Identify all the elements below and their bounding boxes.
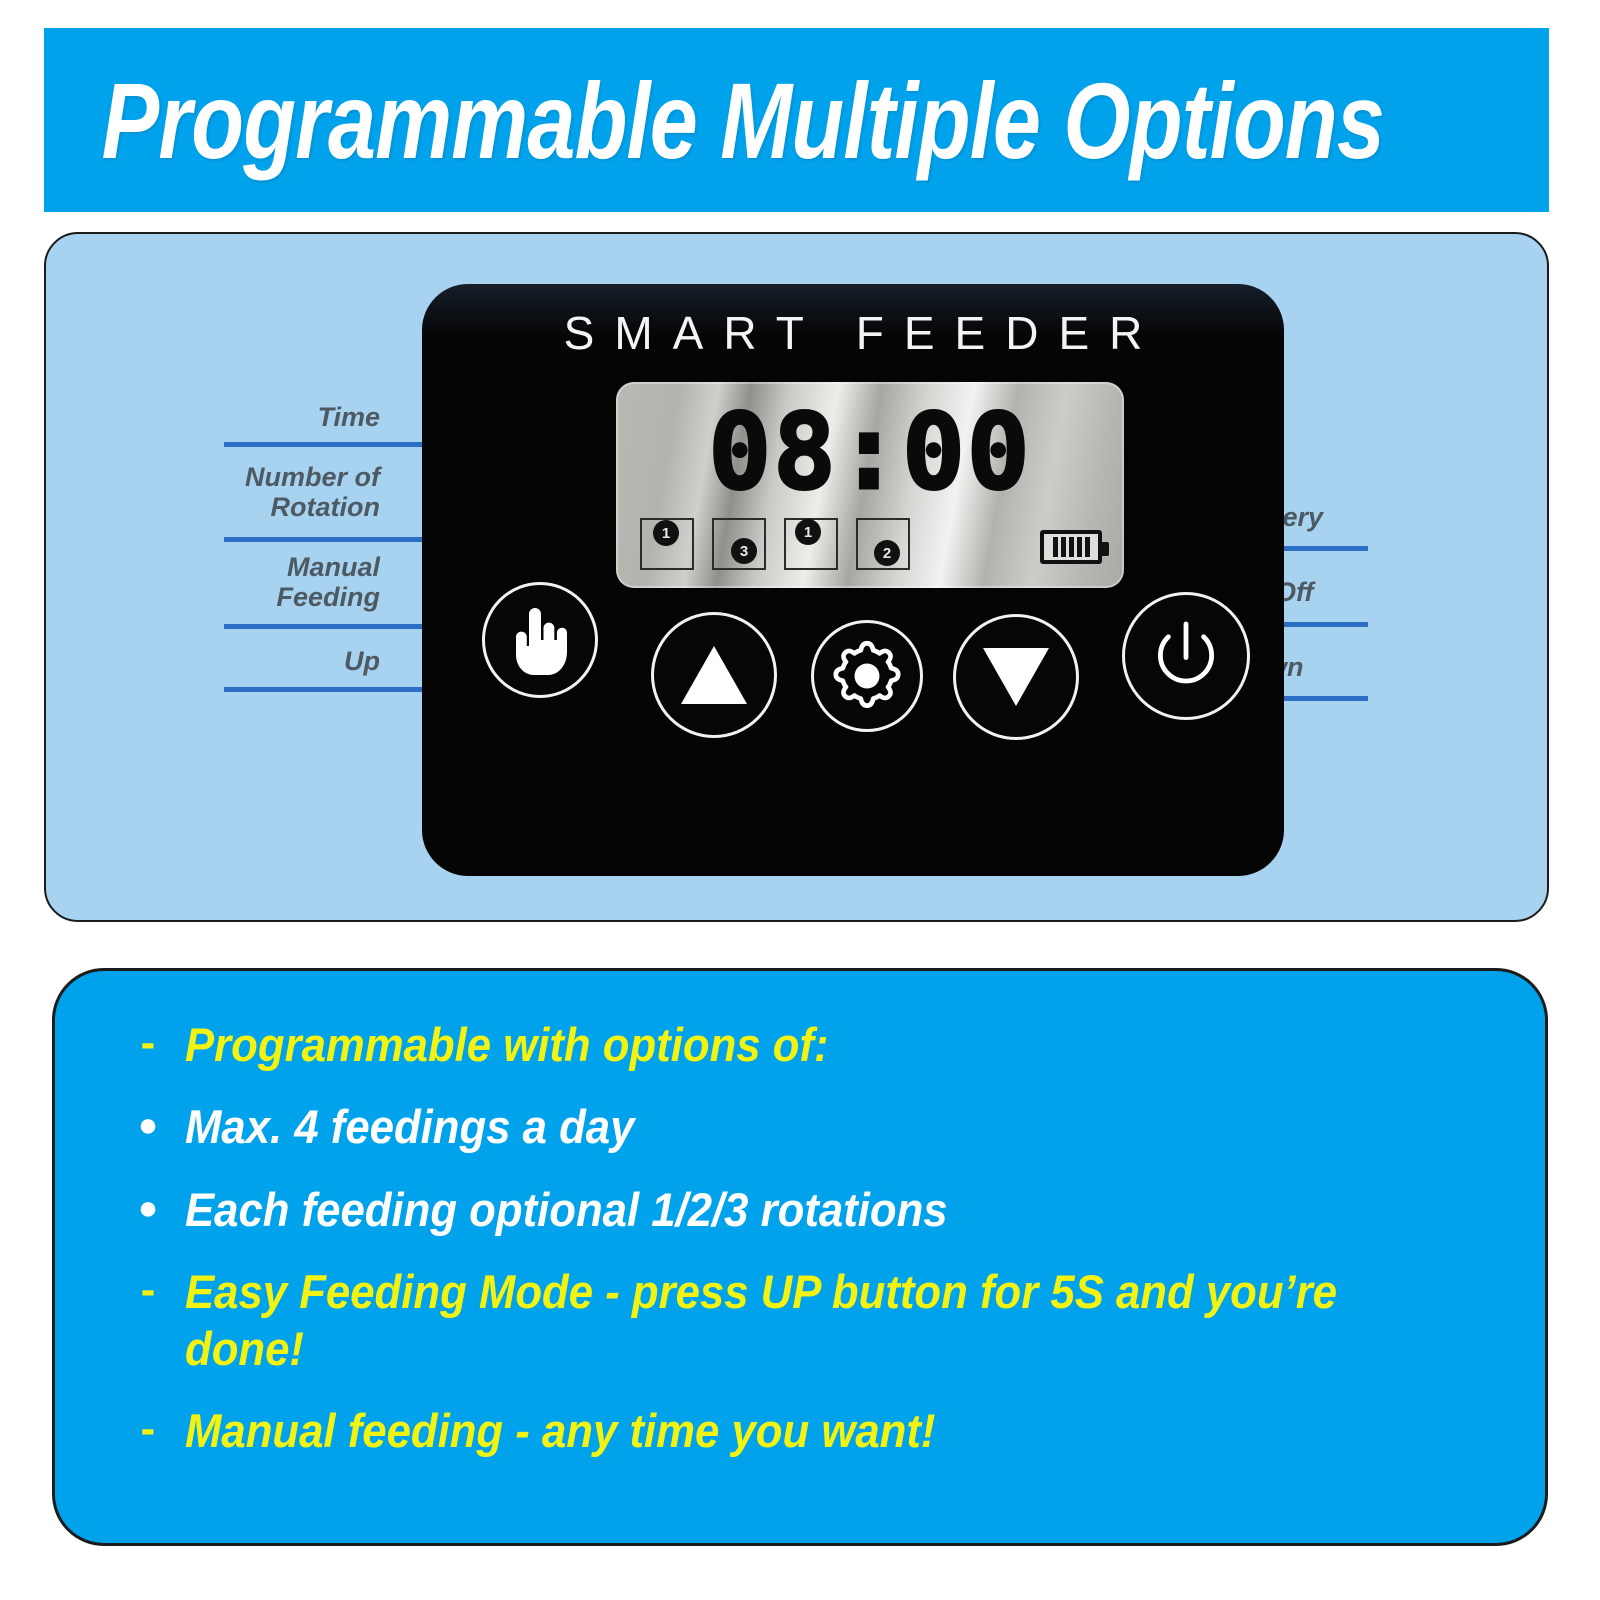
feature-bullet: - (111, 1403, 185, 1455)
feature-bullet: - (111, 1264, 185, 1316)
rotation-slot-value: 1 (795, 519, 821, 545)
feature-item: - Easy Feeding Mode - press UP button fo… (111, 1264, 1489, 1377)
feature-item: - Manual feeding - any time you want! (111, 1403, 1489, 1459)
feature-item: - Programmable with options of: (111, 1017, 1489, 1073)
feature-bullet: - (111, 1017, 185, 1069)
feature-text: Manual feeding - any time you want! (185, 1403, 935, 1459)
feature-text: Max. 4 feedings a day (185, 1099, 634, 1155)
poster-page: Programmable Multiple Options Time Numbe… (0, 0, 1600, 1600)
feature-item: ● Max. 4 feedings a day (111, 1099, 1489, 1155)
triangle-up-icon (681, 646, 747, 704)
rotation-slot: 3 (712, 518, 766, 570)
device-brand-label: SMART FEEDER (422, 306, 1284, 360)
power-button[interactable] (1122, 592, 1250, 720)
settings-button[interactable] (811, 620, 923, 732)
feature-item: ● Each feeding optional 1/2/3 rotations (111, 1182, 1489, 1238)
triangle-down-icon (983, 648, 1049, 706)
power-icon (1146, 616, 1226, 696)
hand-pointer-icon (513, 604, 567, 676)
page-title: Programmable Multiple Options (44, 58, 1384, 183)
rotation-slot: 1 (784, 518, 838, 570)
feature-text: Each feeding optional 1/2/3 rotations (185, 1182, 948, 1238)
rotation-slot: 1 (640, 518, 694, 570)
up-button[interactable] (651, 612, 777, 738)
down-button[interactable] (953, 614, 1079, 740)
gear-icon (828, 637, 906, 715)
feature-text: Programmable with options of: (185, 1017, 829, 1073)
lcd-time-display: 08:00 (616, 398, 1124, 507)
rotation-slot-value: 1 (653, 520, 679, 546)
feature-text: Easy Feeding Mode - press UP button for … (185, 1264, 1398, 1377)
rotation-slot-group: 1 3 1 2 (640, 518, 910, 570)
rotation-slot-value: 3 (731, 538, 757, 564)
manual-feeding-button[interactable] (482, 582, 598, 698)
feature-bullet: ● (111, 1099, 185, 1145)
features-card: - Programmable with options of: ● Max. 4… (52, 968, 1548, 1546)
callout-label-up: Up (110, 646, 380, 676)
callout-label-number-of-rotation: Number of Rotation (110, 462, 380, 522)
callout-label-time: Time (110, 402, 380, 432)
rotation-slot: 2 (856, 518, 910, 570)
header-banner: Programmable Multiple Options (44, 28, 1549, 212)
device-control-panel: SMART FEEDER 08:00 1 3 1 (422, 284, 1284, 876)
diagram-card: Time Number of Rotation Manual Feeding U… (44, 232, 1549, 922)
feature-bullet: ● (111, 1182, 185, 1228)
callout-label-manual-feeding: Manual Feeding (110, 552, 380, 612)
battery-icon (1040, 530, 1102, 564)
rotation-slot-value: 2 (874, 540, 900, 566)
lcd-screen: 08:00 1 3 1 2 (616, 382, 1124, 588)
